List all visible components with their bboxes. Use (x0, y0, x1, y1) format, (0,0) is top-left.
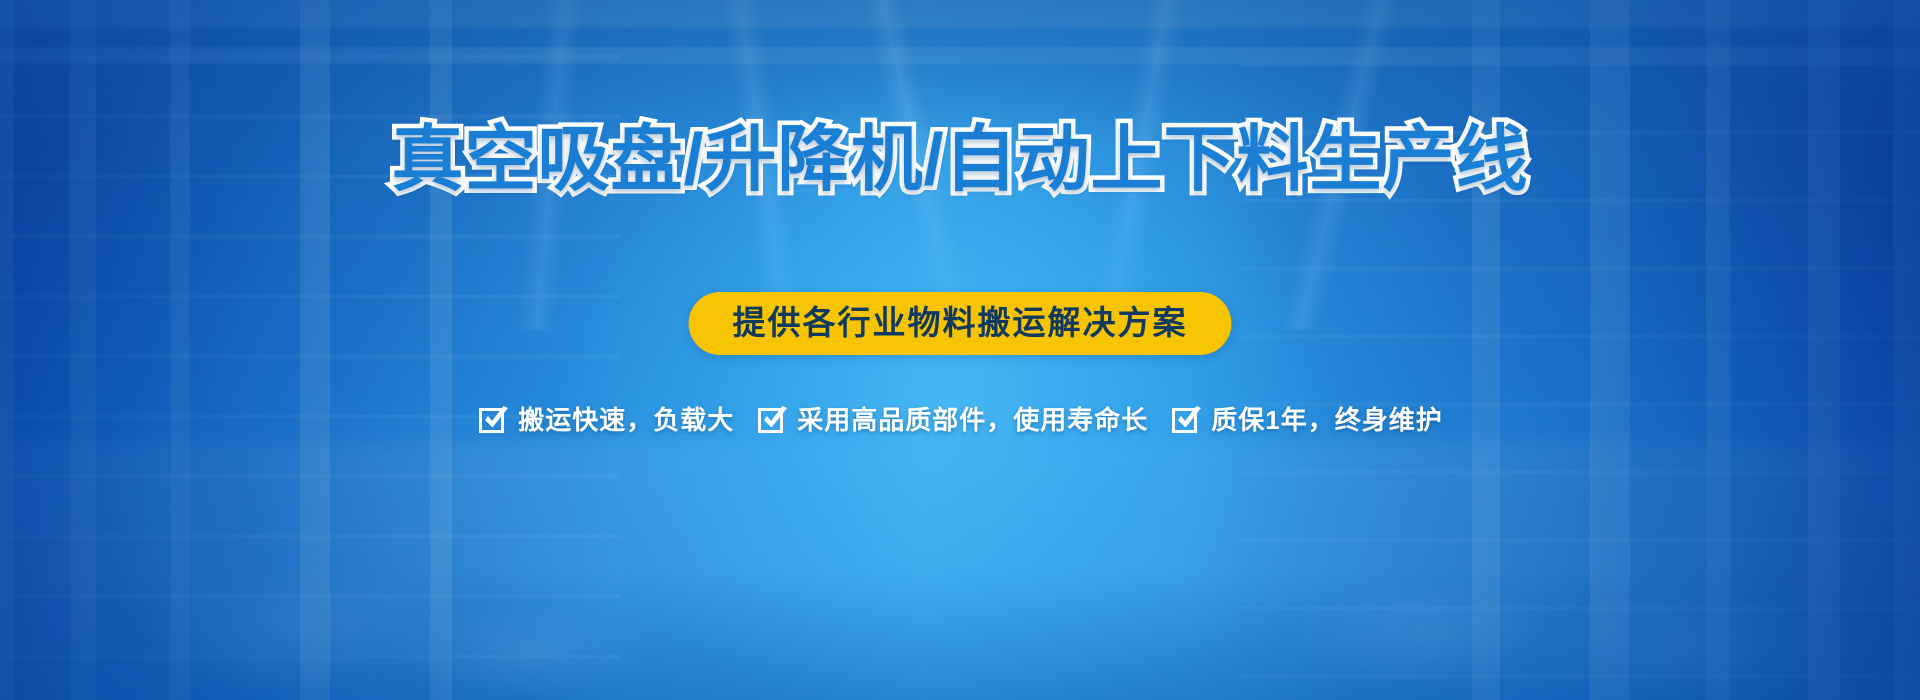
check-box-icon (756, 404, 788, 436)
feature-label-1: 搬运快速，负载大 (518, 407, 734, 433)
banner-headline: 真空吸盘/升降机/自动上下料生产线 (0, 124, 1920, 196)
feature-label-3: 质保1年，终身维护 (1211, 407, 1442, 433)
feature-item-2: 采用高品质部件，使用寿命长 (756, 404, 1148, 436)
banner-content: 真空吸盘/升降机/自动上下料生产线 提供各行业物料搬运解决方案 搬运快速，负载大 (0, 0, 1920, 700)
feature-item-1: 搬运快速，负载大 (477, 404, 734, 436)
banner-subtitle-pill: 提供各行业物料搬运解决方案 (689, 292, 1232, 355)
check-mark-icon (481, 405, 511, 435)
promo-banner: 真空吸盘/升降机/自动上下料生产线 提供各行业物料搬运解决方案 搬运快速，负载大 (0, 0, 1920, 700)
feature-item-3: 质保1年，终身维护 (1170, 404, 1442, 436)
check-mark-icon (1174, 405, 1204, 435)
check-mark-icon (760, 405, 790, 435)
feature-label-2: 采用高品质部件，使用寿命长 (797, 407, 1148, 433)
check-box-icon (1170, 404, 1202, 436)
feature-list: 搬运快速，负载大 采用高品质部件，使用寿命长 质保1 (0, 404, 1920, 436)
check-box-icon (477, 404, 509, 436)
